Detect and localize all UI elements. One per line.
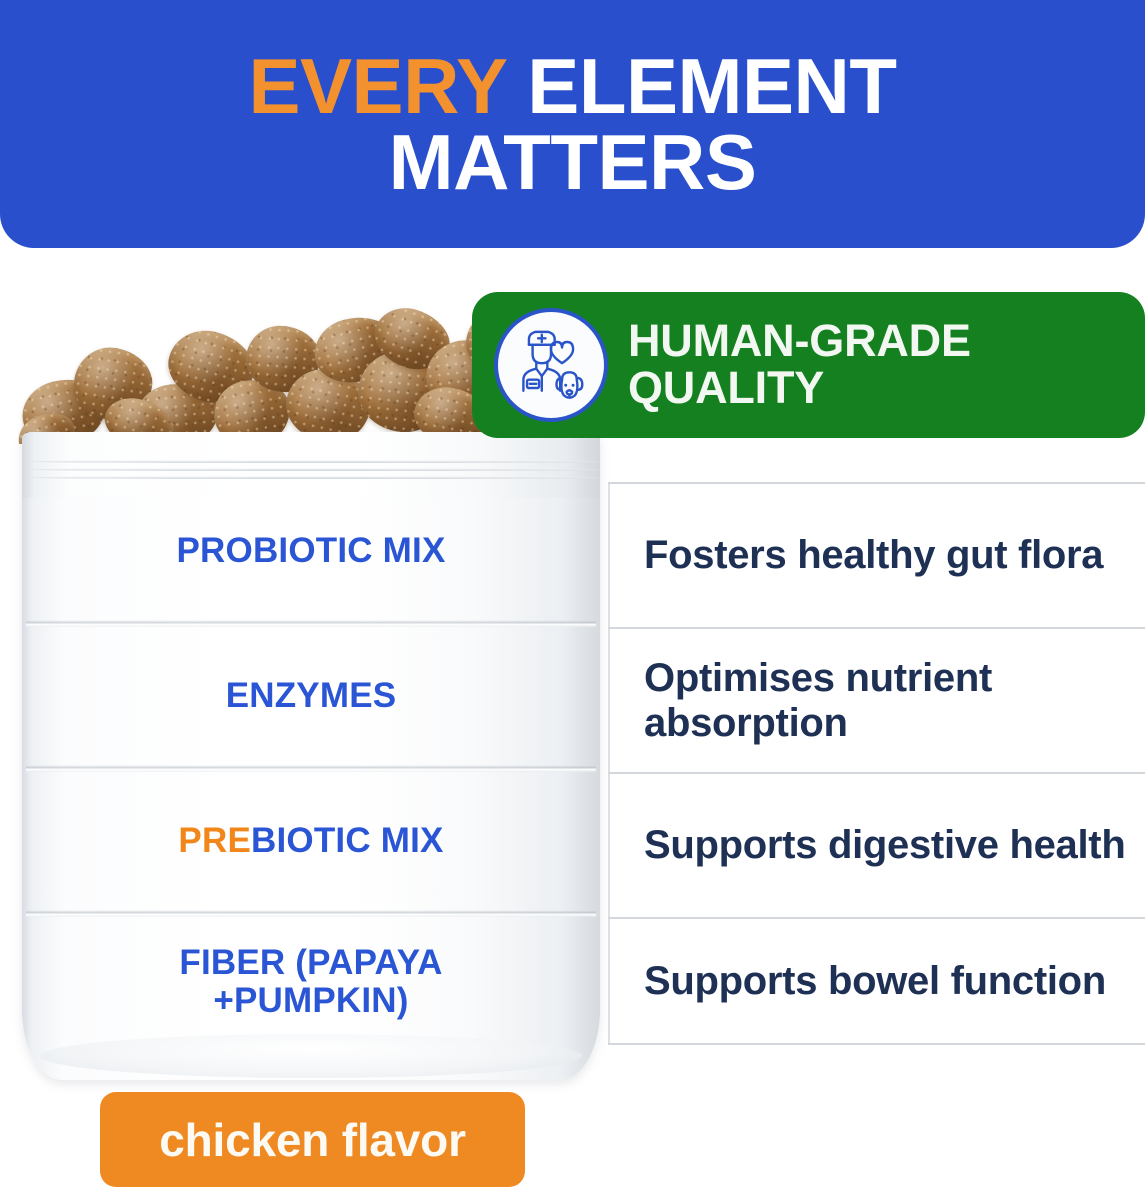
- benefit-row: Optimises nutrient absorption: [608, 629, 1145, 772]
- ingredient-label: ENZYMES: [226, 677, 397, 715]
- ingredient-label: PREBIOTIC MIX: [178, 822, 443, 860]
- flavor-label: chicken flavor: [159, 1113, 466, 1167]
- ingredient-label-rest: FIBER (PAPAYA +PUMPKIN): [179, 943, 442, 1020]
- human-grade-quality-badge: HUMAN-GRADE QUALITY: [472, 292, 1145, 438]
- ingredient-label-prefix: PRE: [178, 821, 251, 860]
- band-separator: [26, 620, 596, 627]
- band-separator: [26, 765, 596, 772]
- header-title-line-2: MATTERS: [389, 124, 757, 200]
- benefit-row: Supports digestive health: [608, 774, 1145, 917]
- header-rest-word: ELEMENT: [506, 42, 896, 130]
- benefit-list: Fosters healthy gut flora Optimises nutr…: [608, 482, 1145, 1044]
- ingredient-band: PREBIOTIC MIX: [22, 772, 600, 910]
- badge-label-line-2: QUALITY: [628, 365, 971, 412]
- benefit-text: Supports bowel function: [644, 959, 1106, 1004]
- benefit-text: Fosters healthy gut flora: [644, 533, 1103, 578]
- benefit-text: Optimises nutrient absorption: [644, 656, 1145, 746]
- header-title-line-1: EVERY ELEMENT: [249, 48, 897, 124]
- ingredient-label-rest: ENZYMES: [226, 676, 397, 715]
- header-banner: EVERY ELEMENT MATTERS: [0, 0, 1145, 248]
- benefit-row-divider: [608, 1043, 1145, 1045]
- ingredient-label: FIBER (PAPAYA +PUMPKIN): [101, 944, 521, 1020]
- jar-lid-ridge: [22, 476, 600, 479]
- ingredient-band-list: PROBIOTIC MIX ENZYMES PREBIOTIC MIX FIBE…: [22, 482, 600, 1044]
- band-separator: [26, 910, 596, 917]
- ingredient-label-rest: PROBIOTIC MIX: [177, 531, 446, 570]
- veterinarian-with-pet-icon: [494, 308, 608, 422]
- ingredient-band: PROBIOTIC MIX: [22, 482, 600, 620]
- benefit-row: Fosters healthy gut flora: [608, 484, 1145, 627]
- badge-label: HUMAN-GRADE QUALITY: [628, 318, 971, 412]
- benefit-text: Supports digestive health: [644, 823, 1125, 868]
- ingredient-band: FIBER (PAPAYA +PUMPKIN): [22, 917, 600, 1047]
- ingredient-band: ENZYMES: [22, 627, 600, 765]
- header-accent-word: EVERY: [249, 42, 507, 130]
- ingredient-label: PROBIOTIC MIX: [177, 532, 446, 570]
- jar-lid-ridge: [22, 468, 600, 471]
- flavor-banner: chicken flavor: [100, 1092, 525, 1187]
- badge-label-line-1: HUMAN-GRADE: [628, 318, 971, 365]
- ingredient-label-rest: BIOTIC MIX: [251, 821, 444, 860]
- benefit-row: Supports bowel function: [608, 919, 1145, 1043]
- jar-lid-ridge: [22, 460, 600, 463]
